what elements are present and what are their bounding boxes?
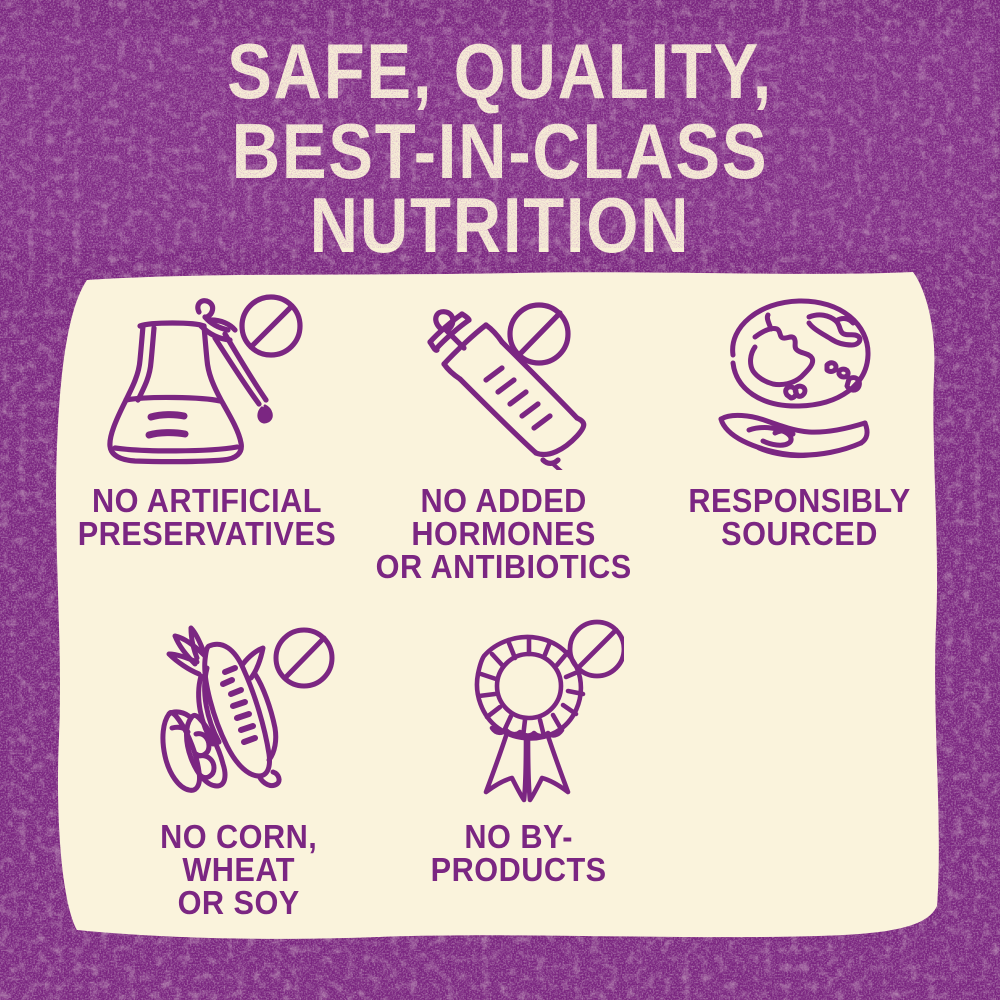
feature-row-1: NO ARTIFICIAL PRESERVATIVES (65, 280, 933, 610)
label-line: OR ANTIBIOTICS (376, 550, 632, 583)
title-line-1: SAFE, QUALITY, (70, 34, 930, 108)
label-line: PRESERVATIVES (77, 517, 335, 550)
feature-label: NO BY-PRODUCTS (403, 820, 635, 886)
syringe-icon (414, 290, 594, 470)
feature-no-added-hormones-or-antibiotics: NO ADDED HORMONES OR ANTIBIOTICS (354, 280, 643, 610)
poster-title: SAFE, QUALITY, BEST-IN-CLASS NUTRITION (0, 34, 1000, 262)
label-line: RESPONSIBLY (688, 484, 910, 517)
feature-no-by-products: NO BY-PRODUCTS (354, 610, 643, 930)
feature-label: NO ADDED HORMONES OR ANTIBIOTICS (376, 484, 632, 583)
icon-box (414, 610, 624, 806)
icon-box (99, 280, 314, 470)
title-line-2: BEST-IN-CLASS NUTRITION (70, 114, 930, 262)
feature-no-artificial-preservatives: NO ARTIFICIAL PRESERVATIVES (65, 280, 354, 610)
feature-no-corn-wheat-or-soy: NO CORN, WHEAT OR SOY (65, 610, 354, 930)
icon-box (414, 280, 594, 470)
row-2-spacer (644, 610, 933, 930)
label-line: NO BY-PRODUCTS (403, 820, 635, 886)
icon-box (709, 280, 889, 470)
feature-label: NO ARTIFICIAL PRESERVATIVES (77, 484, 335, 550)
flask-dropper-icon (99, 290, 314, 470)
content-card: NO ARTIFICIAL PRESERVATIVES (47, 266, 951, 944)
label-line: HORMONES (376, 517, 632, 550)
label-line: OR SOY (131, 886, 346, 919)
label-line: NO CORN, WHEAT (131, 820, 346, 886)
corn-and-soy-icon (139, 616, 339, 806)
poster-canvas: SAFE, QUALITY, BEST-IN-CLASS NUTRITION (0, 0, 1000, 1000)
label-line: NO ARTIFICIAL (77, 484, 335, 517)
prohibition-icon (276, 630, 332, 686)
label-line: SOURCED (688, 517, 910, 550)
feature-label: NO CORN, WHEAT OR SOY (131, 820, 346, 919)
feature-responsibly-sourced: RESPONSIBLY SOURCED (644, 280, 933, 610)
prohibition-icon (510, 305, 568, 363)
feature-row-2: NO CORN, WHEAT OR SOY (65, 610, 933, 930)
award-ribbon-icon (414, 616, 624, 806)
feature-label: RESPONSIBLY SOURCED (688, 484, 910, 550)
icon-box (139, 610, 339, 806)
prohibition-icon (570, 622, 624, 676)
label-line: NO ADDED (376, 484, 632, 517)
globe-in-hand-icon (709, 285, 889, 470)
prohibition-icon (242, 297, 300, 355)
